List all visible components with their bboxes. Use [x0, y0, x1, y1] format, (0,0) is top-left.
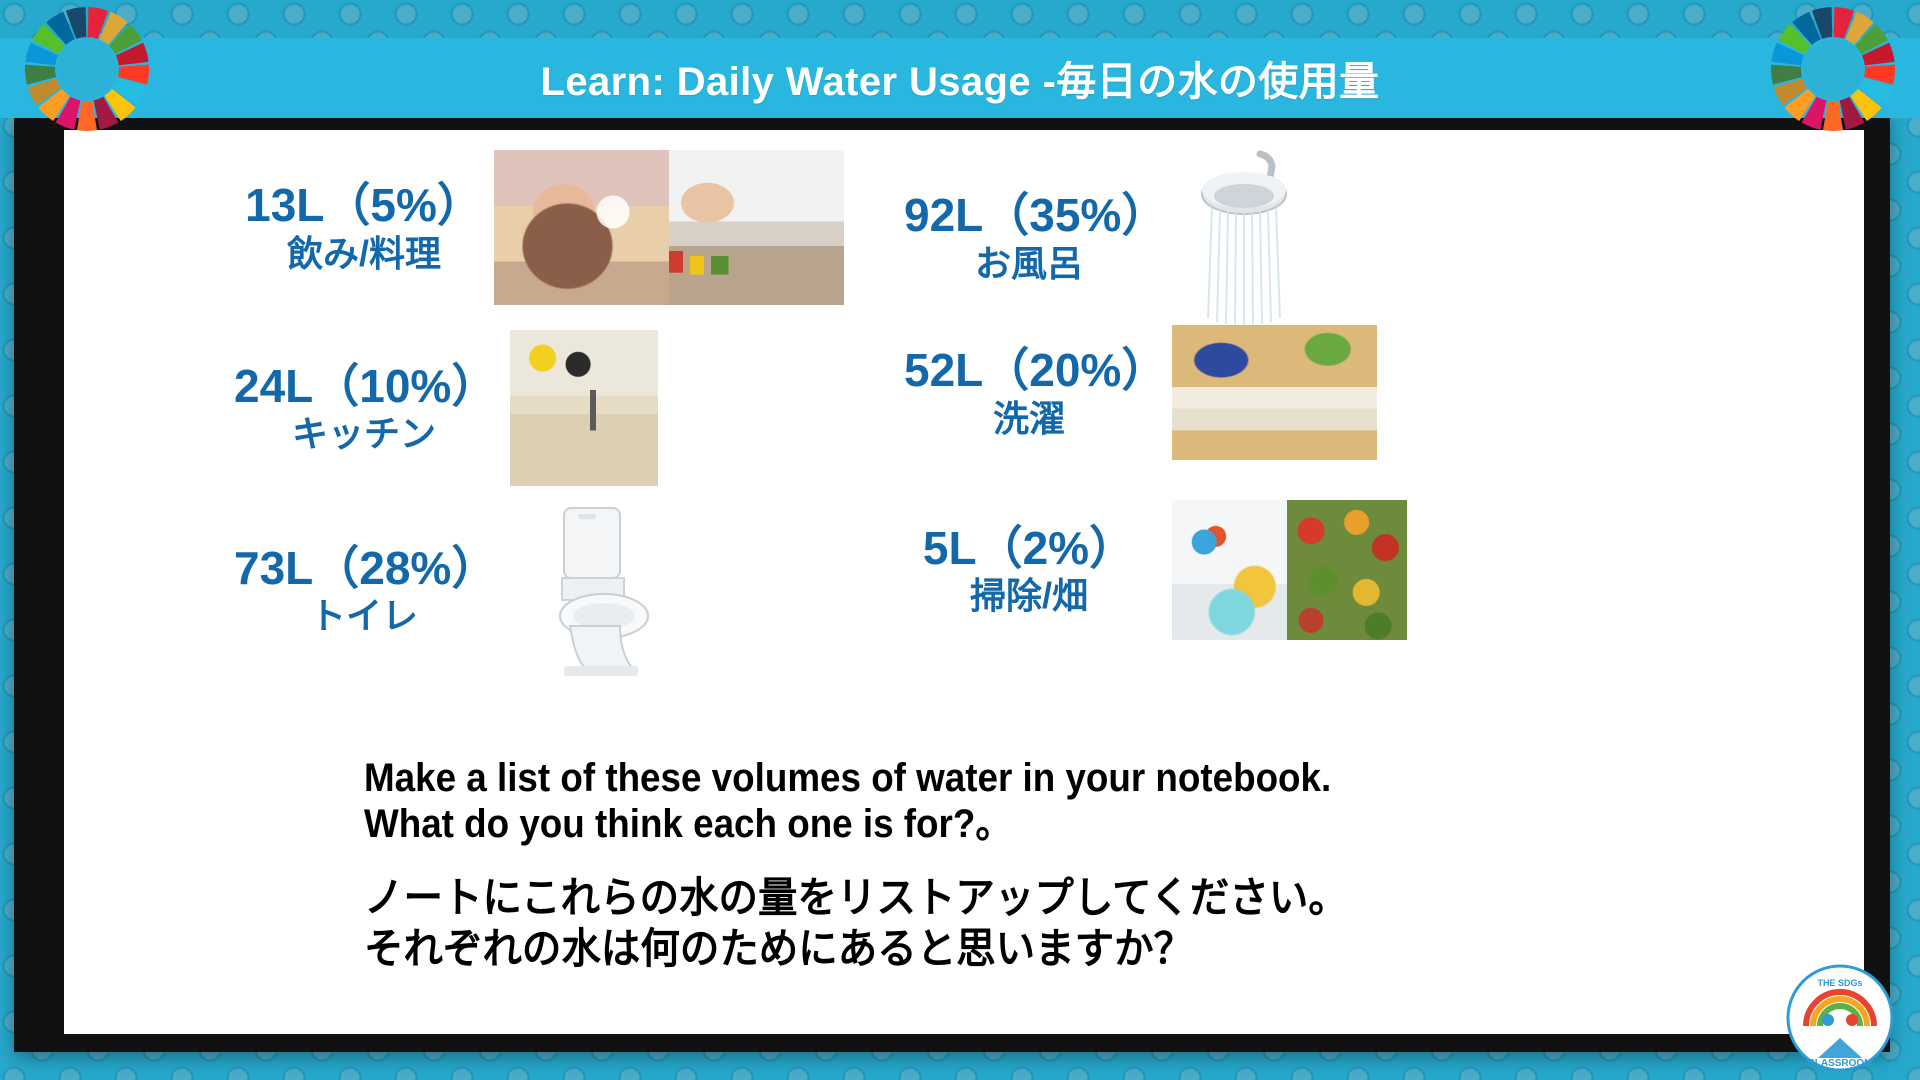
usage-label-laundry: 52L（20%） 洗濯 [904, 346, 1154, 439]
usage-label-cleaning: 5L（2%） 掃除/畑 [904, 524, 1154, 617]
classroom-badge-top-text: THE SDGs [1817, 978, 1862, 988]
usage-category-name: お風呂 [904, 245, 1154, 284]
usage-media-bath [1164, 150, 1324, 325]
woman-cooking-vegetables-photo [669, 150, 844, 305]
usage-media-laundry [1172, 325, 1377, 460]
sdgs-classroom-logo: THE SDGs CLASSROOM [1784, 962, 1896, 1074]
usage-amount: 73L（28%） [234, 544, 494, 594]
vegetable-harvest-photo [1287, 500, 1407, 640]
usage-category-name: キッチン [234, 415, 494, 454]
title-banner: Learn: Daily Water Usage -毎日の水の使用量 [0, 38, 1920, 118]
usage-label-kitchen: 24L（10%） キッチン [234, 362, 494, 455]
water-usage-grid: 13L（5%） 飲み/料理 24L（10%） キッチン [64, 130, 1864, 750]
kitchen-sink-photo [510, 330, 658, 486]
sdg-color-wheel-icon [1766, 2, 1900, 136]
usage-category-name: 掃除/畑 [904, 577, 1154, 616]
usage-item-laundry[interactable]: 52L（20%） 洗濯 [904, 325, 1377, 460]
usage-label-toilet: 73L（28%） トイレ [234, 544, 494, 637]
usage-category-name: トイレ [234, 597, 494, 636]
usage-amount: 24L（10%） [234, 362, 494, 412]
sdg-color-wheel-icon [20, 2, 154, 136]
classroom-badge-bottom-text: CLASSROOM [1808, 1058, 1873, 1069]
instruction-japanese-line2: それぞれの水は何のためにあると思いますか？ [364, 923, 1492, 974]
usage-amount: 52L（20%） [904, 346, 1154, 396]
usage-label-bath: 92L（35%） お風呂 [904, 191, 1154, 284]
shower-head-running-photo [1164, 150, 1324, 325]
usage-category-name: 洗濯 [904, 400, 1154, 439]
usage-item-bath[interactable]: 92L（35%） お風呂 [904, 150, 1324, 325]
usage-category-name: 飲み/料理 [234, 235, 494, 274]
usage-amount: 92L（35%） [904, 191, 1154, 241]
usage-label-drinking: 13L（5%） 飲み/料理 [234, 181, 494, 274]
usage-media-drinking [494, 150, 844, 305]
usage-media-kitchen [510, 330, 658, 486]
usage-item-cleaning[interactable]: 5L（2%） 掃除/畑 [904, 500, 1407, 640]
instruction-japanese-line1: ノートにこれらの水の量をリストアップしてください。 [364, 872, 1492, 923]
usage-media-toilet [518, 500, 678, 680]
folded-towels-laundry-photo [1172, 325, 1377, 460]
cleaning-gloves-photo [1172, 500, 1287, 640]
usage-media-cleaning [1172, 500, 1407, 640]
usage-item-drinking[interactable]: 13L（5%） 飲み/料理 [234, 150, 844, 305]
instructions-block: Make a list of these volumes of water in… [364, 755, 1784, 974]
usage-item-kitchen[interactable]: 24L（10%） キッチン [234, 330, 658, 486]
instruction-english: Make a list of these volumes of water in… [364, 755, 1422, 848]
white-toilet-photo [518, 500, 678, 680]
slide-content-area: 13L（5%） 飲み/料理 24L（10%） キッチン [64, 130, 1864, 1034]
slide-frame: 13L（5%） 飲み/料理 24L（10%） キッチン [14, 112, 1890, 1052]
usage-amount: 5L（2%） [904, 524, 1154, 574]
usage-amount: 13L（5%） [234, 181, 494, 231]
usage-item-toilet[interactable]: 73L（28%） トイレ [234, 500, 678, 680]
woman-drinking-water-photo [494, 150, 669, 305]
page-title: Learn: Daily Water Usage -毎日の水の使用量 [541, 49, 1380, 107]
